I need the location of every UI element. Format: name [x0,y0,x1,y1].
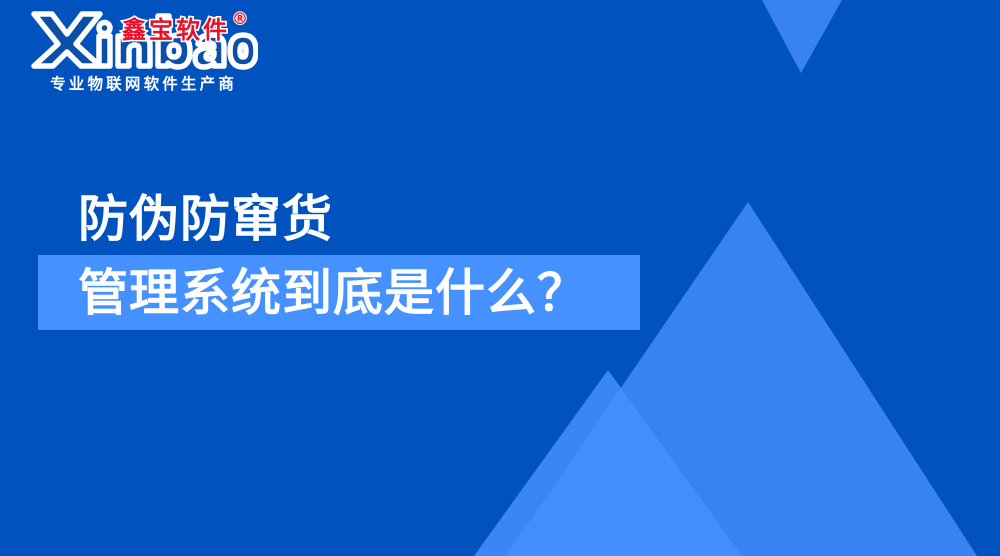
logo-wordmark-icon: .ol { stroke:#ffffff; stroke-width:5.5; … [26,8,258,70]
logo-mark: .ol { stroke:#ffffff; stroke-width:5.5; … [26,8,258,70]
mountain-small-icon [474,370,742,556]
poster-canvas: .ol { stroke:#ffffff; stroke-width:5.5; … [0,0,1000,556]
headline-line-1: 防伪防窜货 [78,186,333,252]
logo-tagline: 专业物联网软件生产商 [28,74,256,94]
logo-brand-cn: 鑫宝软件 [122,16,230,44]
logo-letter-x [34,14,100,66]
logo-registered-mark-icon: ® [232,9,248,28]
brand-logo: .ol { stroke:#ffffff; stroke-width:5.5; … [26,8,258,100]
headline-line-2: 管理系统到底是什么？ [78,264,588,322]
inverted-triangle-top-icon [762,0,842,73]
